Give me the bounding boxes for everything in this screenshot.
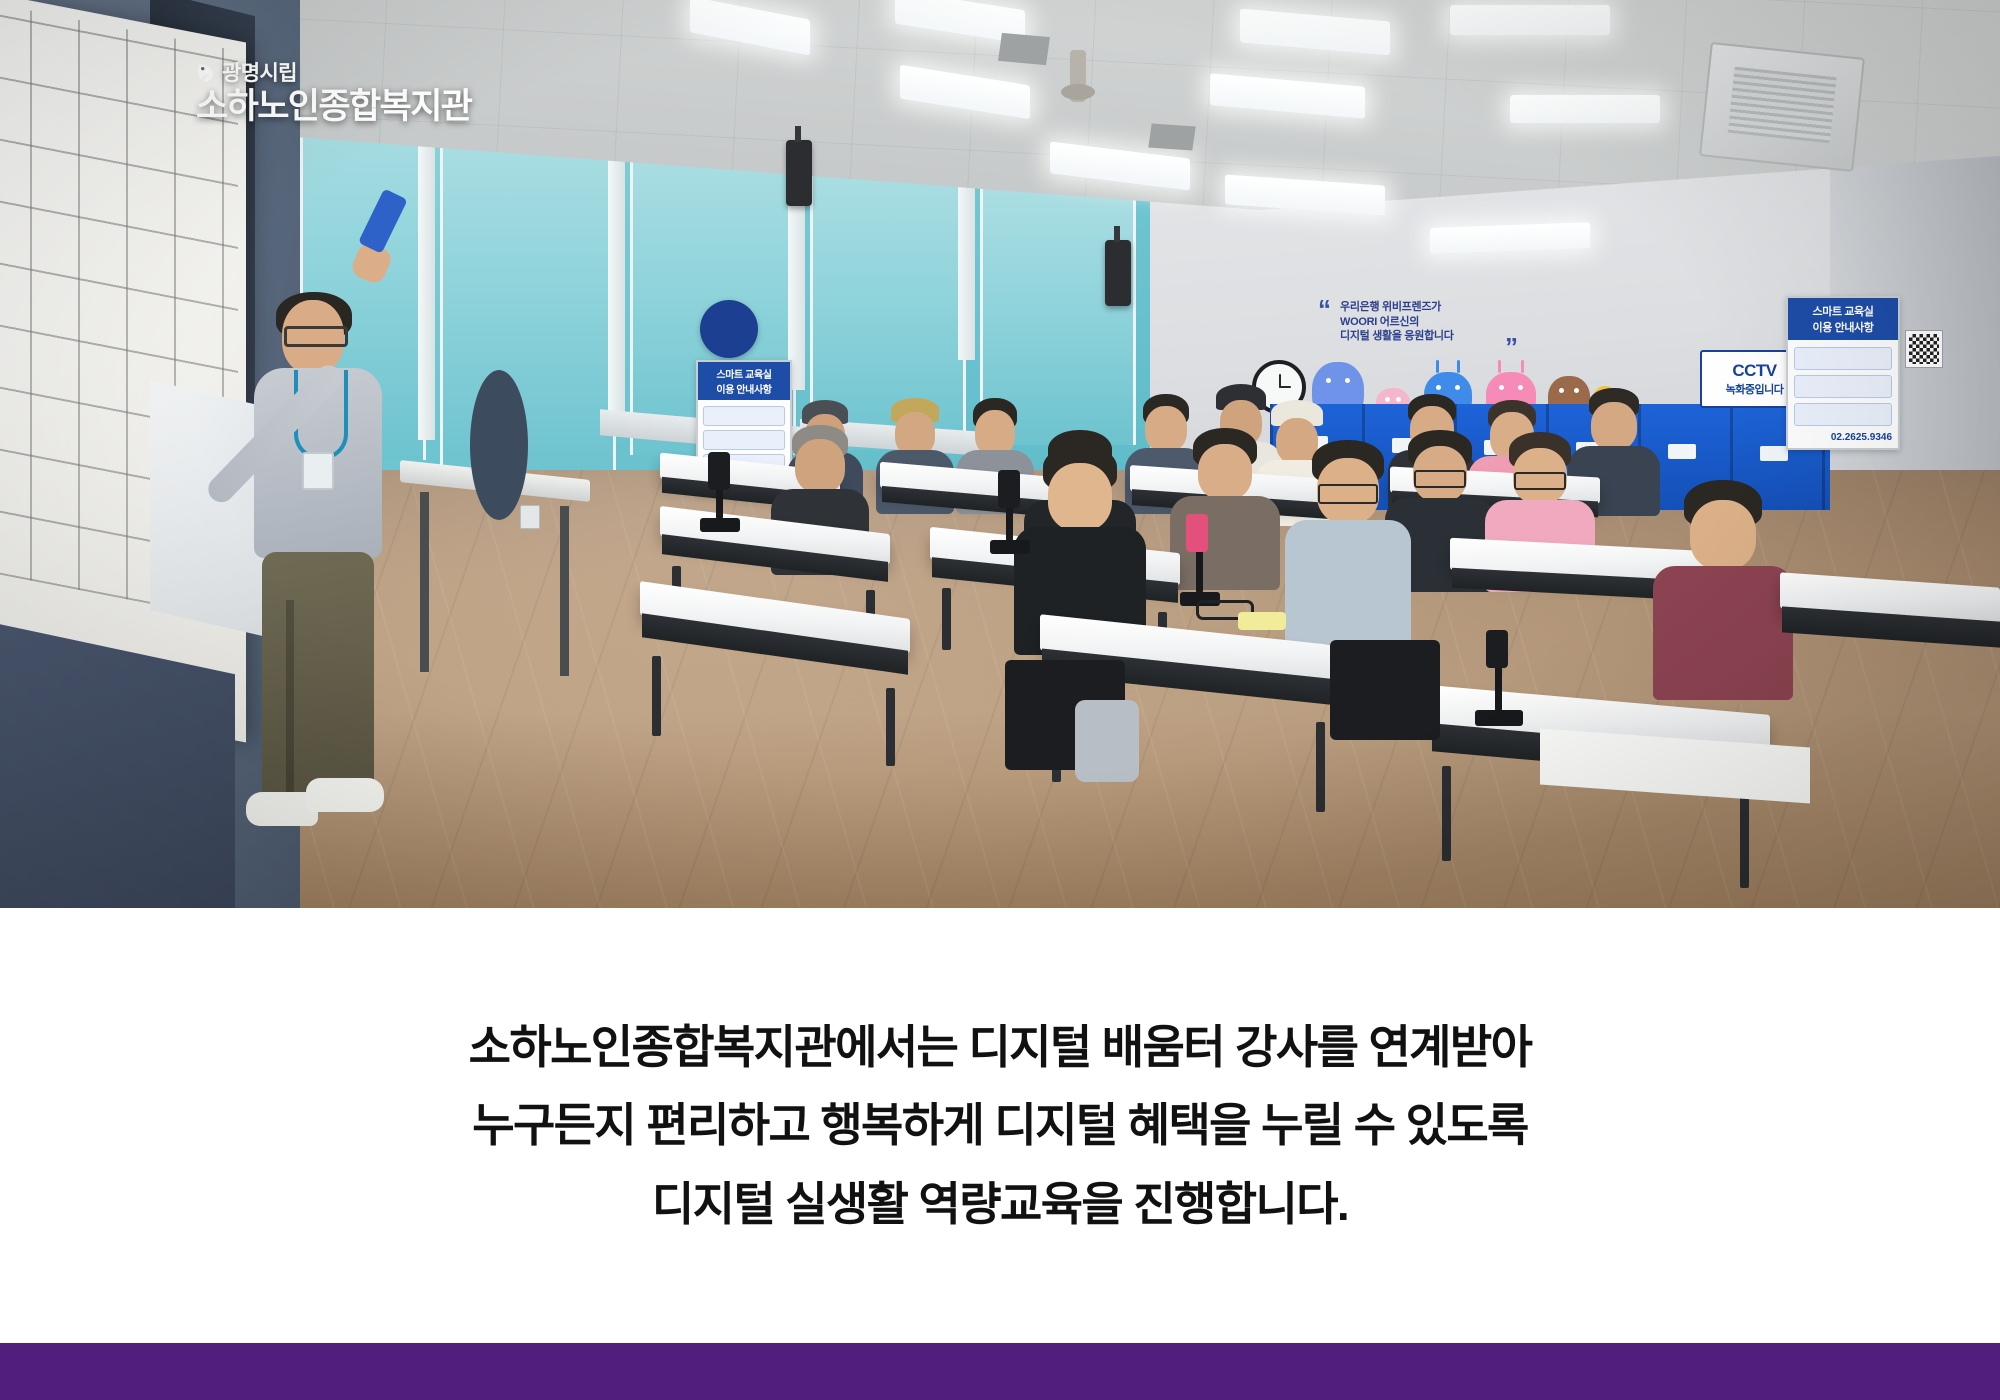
wall-quote-line-3: 디지털 생활을 응원합니다 xyxy=(1340,329,1570,344)
lectern-leg-left xyxy=(420,492,429,672)
promo-card: “ 우리은행 위비프렌즈가 WOORI 어르신의 디지털 생활을 응원합니다 ” xyxy=(0,0,2000,1400)
desk-leg-f2b xyxy=(1316,722,1325,812)
instructor-shoe-right xyxy=(306,778,384,812)
notice-row-right-2 xyxy=(1794,375,1892,398)
cabinet-tag-5 xyxy=(1668,444,1696,459)
wall-ellipse-panel xyxy=(470,370,528,520)
cctv-subtitle: 녹화중입니다 xyxy=(1726,381,1784,397)
student-head-f3 xyxy=(1690,500,1756,570)
wall-quote-line-1: 우리은행 위비프렌즈가 xyxy=(1340,300,1570,315)
logo-top-row: 광명시립 xyxy=(196,62,471,84)
student-head-m3 xyxy=(1198,444,1252,500)
leaf-icon xyxy=(196,62,215,84)
instructor-glasses xyxy=(284,326,348,347)
projector-mount xyxy=(1070,50,1086,102)
logo-title: 소하노인종합복지관 xyxy=(196,86,471,127)
instructor xyxy=(232,300,407,840)
student-glasses-m4 xyxy=(1414,470,1466,488)
notice-title-left-1: 스마트 교육실 xyxy=(698,362,790,381)
notice-title-right-1: 스마트 교육실 xyxy=(1788,298,1898,319)
student-head-f1 xyxy=(1048,463,1112,531)
smart-classroom-notice-right: 스마트 교육실 이용 안내사항 02.2625.9346 xyxy=(1786,296,1900,450)
ceiling-vent-1 xyxy=(998,33,1050,65)
phone-holder-base-4 xyxy=(1475,710,1523,726)
desk-leg-f3b xyxy=(1740,796,1749,888)
student-front-2 xyxy=(1290,440,1405,645)
instructor-trousers xyxy=(262,552,374,802)
notice-row-right-3 xyxy=(1794,403,1892,426)
ceiling-speaker-2 xyxy=(1105,240,1131,306)
lectern-leg-right xyxy=(560,506,569,676)
cabinet-tag-6 xyxy=(1760,446,1788,461)
wall-outlet xyxy=(520,505,540,529)
student-head-m1 xyxy=(795,439,845,493)
mascot-antenna-left-2 xyxy=(1498,360,1501,373)
student-body-f3 xyxy=(1653,566,1793,700)
desk-leg-f1b xyxy=(886,688,895,766)
student-glasses-m5 xyxy=(1514,472,1566,490)
phone-in-holder-2 xyxy=(998,470,1020,508)
notice-circle-badge xyxy=(700,300,758,358)
phone-holder-arm-3 xyxy=(1196,548,1203,594)
phone-in-holder-1 xyxy=(708,452,730,490)
notice-row-right-1 xyxy=(1794,347,1892,370)
organization-logo: 광명시립 소하노인종합복지관 xyxy=(196,62,471,127)
caption-line-1: 소하노인종합복지관에서는 디지털 배움터 강사를 연계받아 xyxy=(469,1016,1532,1079)
quote-open-icon: “ xyxy=(1318,296,1331,322)
quote-close-icon: ” xyxy=(1505,334,1518,360)
mascot-antenna-right-2 xyxy=(1521,360,1524,373)
notice-row-left-2 xyxy=(703,430,785,450)
footer-bar xyxy=(0,1343,2000,1400)
wall-quote-line-2: WOORI 어르신의 xyxy=(1340,315,1570,330)
notice-phone-right: 02.2625.9346 xyxy=(1788,426,1898,443)
notice-title-left-2: 이용 안내사항 xyxy=(698,381,790,400)
phone-holder-arm-4 xyxy=(1495,664,1502,712)
bag-on-floor xyxy=(1075,700,1139,782)
instructor-leg-split xyxy=(286,600,294,800)
student-front-3 xyxy=(1660,480,1785,700)
ceiling-light-9 xyxy=(1510,95,1660,123)
desk-leg-mid-2a xyxy=(942,588,951,650)
phone-holder-base-1 xyxy=(700,518,740,532)
notice-title-right-2: 이용 안내사항 xyxy=(1788,319,1898,340)
chair-2 xyxy=(1330,640,1440,740)
qr-code xyxy=(1905,330,1943,368)
phone-holder-base-2 xyxy=(990,540,1030,554)
mascot-antenna-right xyxy=(1457,360,1460,373)
instructor-id-badge xyxy=(302,452,334,490)
caption-block: 소하노인종합복지관에서는 디지털 배움터 강사를 연계받아 누구든지 편리하고 … xyxy=(0,908,2000,1343)
caption-line-3: 디지털 실생활 역량교육을 진행합니다. xyxy=(652,1173,1348,1236)
logo-subtitle: 광명시립 xyxy=(222,63,297,84)
ceiling-light-8 xyxy=(1450,5,1610,35)
caption-line-2: 누구든지 편리하고 행복하게 디지털 혜택을 누릴 수 있도록 xyxy=(472,1094,1528,1157)
student-mid-3 xyxy=(1175,428,1275,588)
ceiling-speaker-1 xyxy=(786,140,812,206)
student-head-9 xyxy=(1591,402,1637,450)
classroom-photo: “ 우리은행 위비프렌즈가 WOORI 어르신의 디지털 생활을 응원합니다 ” xyxy=(0,0,2000,908)
student-glasses-f2 xyxy=(1318,484,1378,504)
desk-leg-f3a xyxy=(1442,766,1451,861)
cctv-title: CCTV xyxy=(1732,361,1776,381)
phone-in-holder-4 xyxy=(1486,630,1508,668)
mascot-antenna-left xyxy=(1436,360,1439,373)
ceiling-vent-2 xyxy=(1148,123,1195,150)
desk-leg-f1a xyxy=(652,656,661,736)
air-conditioner xyxy=(1699,42,1865,172)
notice-row-left-1 xyxy=(703,406,785,426)
yellow-case-on-desk xyxy=(1238,612,1286,630)
student-body-f2 xyxy=(1285,520,1411,644)
phone-in-holder-3 xyxy=(1186,514,1208,552)
